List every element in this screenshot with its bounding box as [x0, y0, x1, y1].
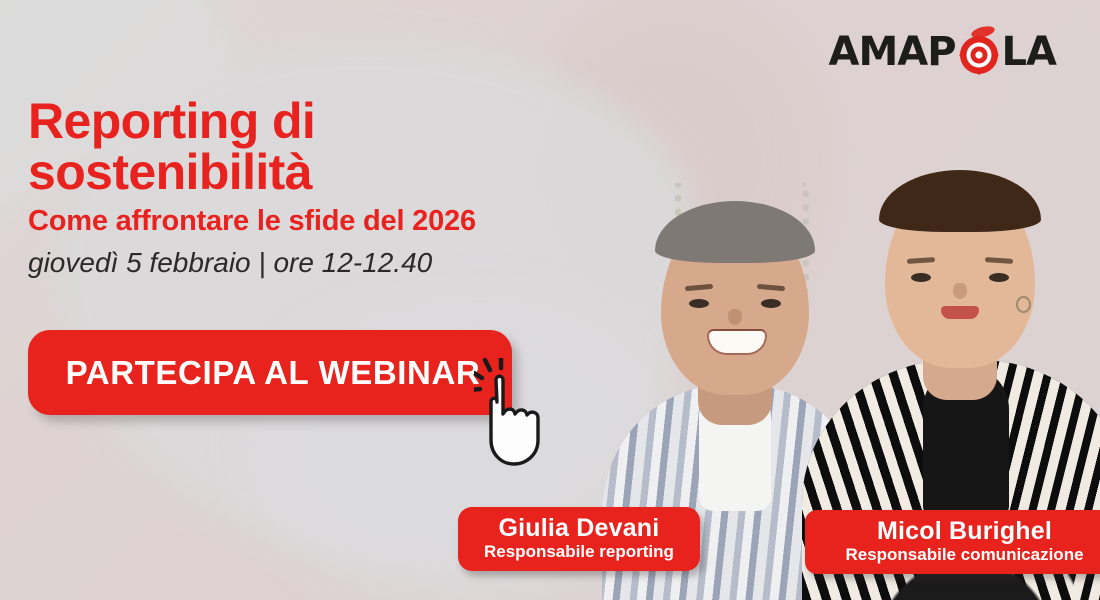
page-title: Reporting di sostenibilità	[28, 96, 476, 198]
headline-block: Reporting di sostenibilità Come affronta…	[28, 96, 476, 279]
smiling-mouth	[707, 329, 767, 355]
logo-text-after: LA	[1002, 32, 1056, 72]
speaker-name: Giulia Devani	[484, 514, 674, 542]
lips	[941, 306, 979, 319]
speaker-role: Responsabile reporting	[484, 542, 674, 562]
event-datetime: giovedì 5 febbraio | ore 12-12.40	[28, 248, 476, 279]
poppy-flower-icon	[956, 24, 1002, 81]
title-line-1: Reporting di	[28, 93, 315, 149]
cta-area: PARTECIPA AL WEBINAR	[28, 330, 512, 415]
title-line-2: sostenibilità	[28, 147, 476, 198]
partecipa-al-webinar-button[interactable]: PARTECIPA AL WEBINAR	[28, 330, 512, 415]
amapola-logo[interactable]: AMAP LA	[829, 24, 1057, 80]
hair-fringe	[879, 170, 1041, 232]
speaker-role: Responsabile comunicazione	[831, 545, 1098, 565]
speaker-badge-micol: Micol Burighel Responsabile comunicazion…	[805, 510, 1100, 574]
portrait-head	[661, 209, 809, 395]
portrait-head	[885, 178, 1035, 368]
hoop-earring	[1016, 296, 1031, 313]
speaker-badge-giulia: Giulia Devani Responsabile reporting	[458, 507, 700, 571]
speaker-name: Micol Burighel	[831, 517, 1098, 545]
webinar-promo-banner: AMAP LA Reporting di sostenibilità	[0, 0, 1100, 600]
subtitle: Come affrontare le sfide del 2026	[28, 206, 476, 236]
logo-text-before: AMAP	[829, 32, 956, 72]
